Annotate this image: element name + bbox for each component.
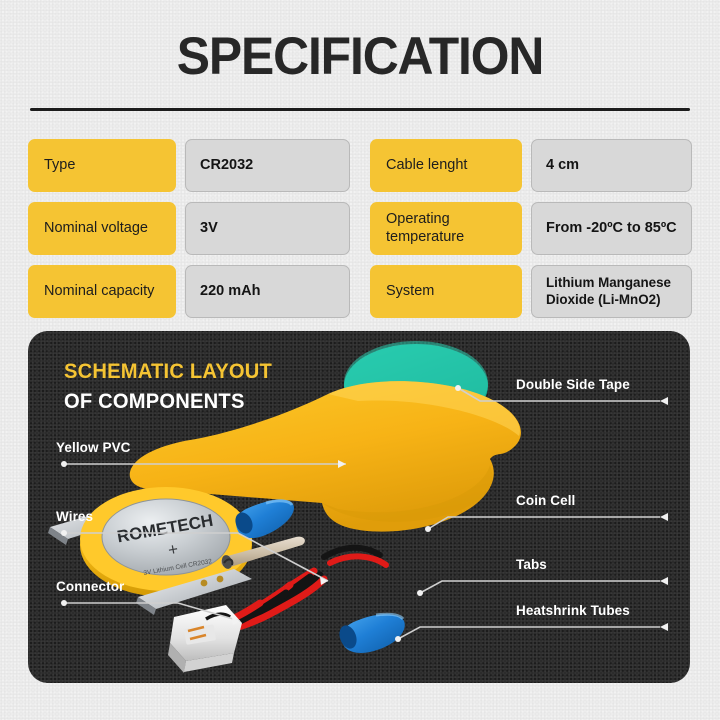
label-coin-cell: Coin Cell — [516, 493, 575, 508]
page-title: SPECIFICATION — [22, 26, 699, 87]
table-row: Nominal capacity 220 mAh — [28, 265, 350, 318]
spec-key-cable-length: Cable lenght — [370, 139, 522, 192]
spec-key-operating-temperature: Operating temperature — [370, 202, 522, 255]
spec-value-nominal-capacity: 220 mAh — [185, 265, 350, 318]
table-row: Type CR2032 — [28, 139, 350, 192]
spec-column-left: Type CR2032 Nominal voltage 3V Nominal c… — [28, 139, 350, 318]
schematic-panel: SCHEMATIC LAYOUT OF COMPONENTS — [28, 331, 690, 683]
specification-table: Type CR2032 Nominal voltage 3V Nominal c… — [28, 139, 692, 318]
spec-key-nominal-voltage: Nominal voltage — [28, 202, 176, 255]
spec-value-nominal-voltage: 3V — [185, 202, 350, 255]
table-row: Nominal voltage 3V — [28, 202, 350, 255]
spec-value-cable-length: 4 cm — [531, 139, 692, 192]
table-row: Operating temperature From -20ºC to 85ºC — [370, 202, 692, 255]
spec-key-system: System — [370, 265, 522, 318]
label-yellow-pvc: Yellow PVC — [56, 440, 131, 455]
label-wires: Wires — [56, 509, 93, 524]
label-tabs: Tabs — [516, 557, 547, 572]
spec-key-type: Type — [28, 139, 176, 192]
label-heatshrink-tubes: Heatshrink Tubes — [516, 603, 630, 618]
spec-key-nominal-capacity: Nominal capacity — [28, 265, 176, 318]
title-divider — [30, 108, 690, 111]
table-row: System Lithium Manganese Dioxide (Li-MnO… — [370, 265, 692, 318]
label-connector: Connector — [56, 579, 124, 594]
spec-value-type: CR2032 — [185, 139, 350, 192]
schematic-title-line1: SCHEMATIC LAYOUT — [64, 360, 272, 384]
table-row: Cable lenght 4 cm — [370, 139, 692, 192]
spec-column-right: Cable lenght 4 cm Operating temperature … — [370, 139, 692, 318]
specification-page: SPECIFICATION Type CR2032 Nominal voltag… — [0, 0, 720, 720]
spec-value-operating-temperature: From -20ºC to 85ºC — [531, 202, 692, 255]
spec-value-system: Lithium Manganese Dioxide (Li-MnO2) — [531, 265, 692, 318]
label-double-side-tape: Double Side Tape — [516, 377, 630, 392]
schematic-title-line2: OF COMPONENTS — [64, 390, 272, 414]
schematic-heading: SCHEMATIC LAYOUT OF COMPONENTS — [64, 360, 281, 414]
